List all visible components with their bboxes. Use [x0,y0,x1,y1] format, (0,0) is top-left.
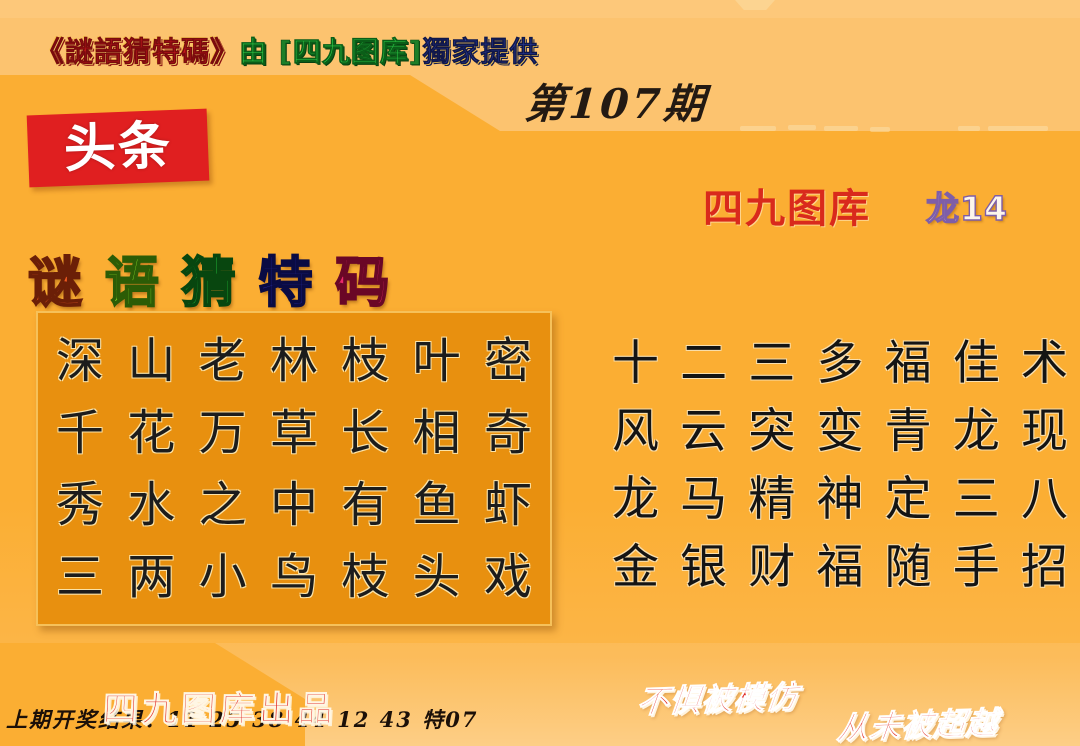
riddle-char: 两 [127,541,175,613]
header-bracket-close: ] [409,35,423,68]
riddle-char: 有 [341,469,389,541]
poem-char: 马 [680,466,727,534]
poem-char: 金 [612,534,659,602]
poem-char: 随 [885,534,932,602]
riddle-char: 长 [341,397,389,469]
riddle-char: 密 [484,325,532,397]
header-title-by: 由 [239,30,268,70]
riddle-line: 秀 水 之 中 有 鱼 虾 [56,469,532,541]
poem-char: 龙 [953,398,1000,466]
riddle-char: 草 [270,397,318,469]
produced-by-label: 四九图库出品 [102,681,339,732]
header-title-exclusive: 獨家提供 [422,30,538,70]
riddle-line: 深 山 老 林 枝 叶 密 [56,325,532,397]
rainbow-char-3: 猜 [182,238,238,317]
rainbow-char-4: 特 [258,238,314,317]
zodiac-label: 龙14 [926,182,1008,230]
riddle-char: 戏 [484,541,532,613]
riddle-char: 万 [199,397,247,469]
rainbow-char-5: 码 [335,238,391,317]
poem-char: 多 [816,330,863,398]
poem-char: 风 [612,398,659,466]
riddle-char: 水 [127,469,175,541]
poem-char: 三 [748,330,795,398]
header-title-main: 《謎語猜特碼》 [36,30,239,70]
slogan-left: 不惧被模仿 [635,671,800,722]
riddle-char: 枝 [341,541,389,613]
riddle-line: 千 花 万 草 长 相 奇 [56,397,532,469]
poem-char: 青 [885,398,932,466]
riddle-char: 虾 [484,469,532,541]
riddle-char: 花 [127,397,175,469]
riddle-char: 秀 [56,469,104,541]
poem-line: 风 云 突 变 青 龙 现 [612,398,1068,466]
riddle-line: 三 两 小 鸟 枝 头 戏 [56,541,532,613]
poem-char: 银 [680,534,727,602]
poem-line: 金 银 财 福 随 手 招 [612,534,1068,602]
poem-char: 突 [748,398,795,466]
rainbow-title: 谜 语 猜 特 码 [28,238,391,317]
poem-char: 八 [1021,466,1068,534]
poem-char: 现 [1021,398,1068,466]
header-bracket-open: [ [279,35,293,68]
poem-block: 十 二 三 多 福 佳 术 风 云 突 变 青 龙 现 龙 马 精 神 定 三 … [612,330,1068,602]
riddle-char: 之 [199,469,247,541]
riddle-char: 深 [56,325,104,397]
riddle-char: 鸟 [270,541,318,613]
headline-badge-label: 头条 [63,120,173,176]
poem-line: 十 二 三 多 福 佳 术 [612,330,1068,398]
poem-char: 术 [1021,330,1068,398]
riddle-char: 林 [270,325,318,397]
background-watermark-row [700,124,1060,134]
poem-char: 佳 [953,330,1000,398]
riddle-char: 老 [199,325,247,397]
riddle-char: 山 [127,325,175,397]
issue-number: 第107期 [523,70,710,130]
header-title-brand: 四九图库 [293,30,409,70]
brand-name: 四九图库 [703,176,871,234]
riddle-char: 奇 [484,397,532,469]
poem-line: 龙 马 精 神 定 三 八 [612,466,1068,534]
poster-canvas: 《謎語猜特碼》由 [四九图库]獨家提供 第107期 头条 谜 语 猜 特 码 深… [0,0,1080,746]
rainbow-char-2: 语 [105,238,161,317]
background-top-strip [0,0,1080,18]
poem-char: 十 [612,330,659,398]
riddle-char: 千 [56,397,104,469]
poem-char: 财 [748,534,795,602]
riddle-char: 相 [413,397,461,469]
poem-char: 龙 [612,466,659,534]
riddle-box: 深 山 老 林 枝 叶 密 千 花 万 草 长 相 奇 秀 水 之 中 有 鱼 … [36,311,552,626]
riddle-char: 鱼 [413,469,461,541]
poem-char: 云 [680,398,727,466]
riddle-char: 枝 [341,325,389,397]
slogan-right: 从未被超越 [835,697,1000,746]
riddle-char: 小 [199,541,247,613]
header-title: 《謎語猜特碼》由 [四九图库]獨家提供 [36,30,538,70]
headline-badge: 头条 [27,109,210,188]
poem-char: 定 [885,466,932,534]
riddle-char: 中 [270,469,318,541]
riddle-char: 三 [56,541,104,613]
poem-char: 二 [680,330,727,398]
poem-char: 三 [953,466,1000,534]
poem-char: 手 [953,534,1000,602]
riddle-char: 叶 [413,325,461,397]
poem-char: 神 [816,466,863,534]
rainbow-char-1: 谜 [28,238,84,317]
poem-char: 精 [748,466,795,534]
poem-char: 福 [885,330,932,398]
riddle-char: 头 [413,541,461,613]
poem-char: 招 [1021,534,1068,602]
poem-char: 福 [816,534,863,602]
poem-char: 变 [816,398,863,466]
